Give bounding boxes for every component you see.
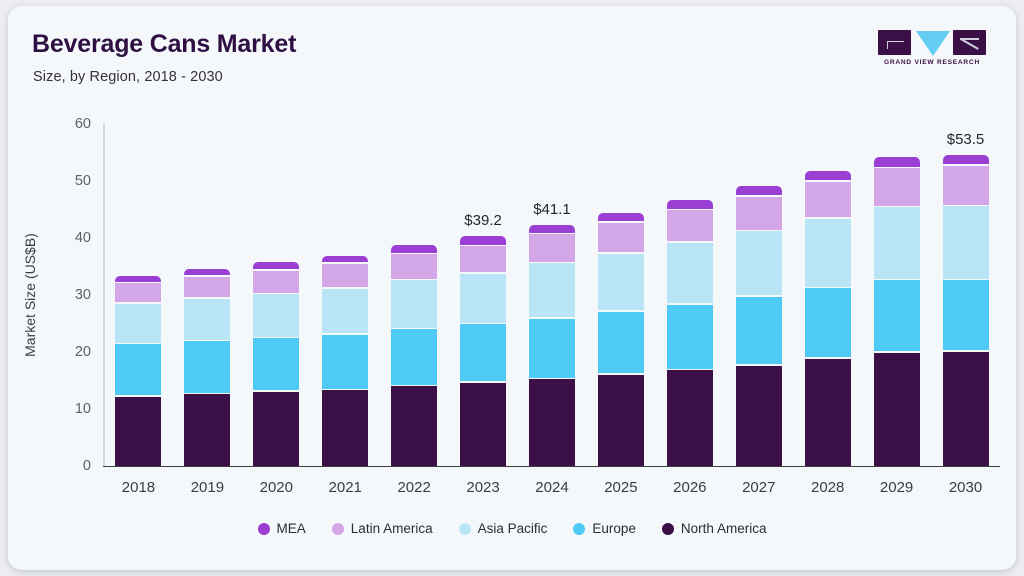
bar-segment-latin-america[interactable] xyxy=(874,168,920,206)
bar-segment-mea[interactable] xyxy=(460,236,506,245)
bar-segment-mea[interactable] xyxy=(529,225,575,232)
legend-item-north-america[interactable]: North America xyxy=(662,521,767,536)
bar-segment-asia-pacific[interactable] xyxy=(736,231,782,295)
stacked-bar[interactable] xyxy=(736,186,782,466)
bar-slot: $53.52030 xyxy=(931,124,1000,466)
bar-slot: $39.22023 xyxy=(449,124,518,466)
legend-label: Europe xyxy=(592,521,636,536)
bar-segment-europe[interactable] xyxy=(391,329,437,384)
bar-segment-north-america[interactable] xyxy=(805,359,851,466)
stacked-bar[interactable] xyxy=(184,269,230,466)
bar-segment-latin-america[interactable] xyxy=(391,254,437,279)
legend-label: Latin America xyxy=(351,521,433,536)
stacked-bar[interactable] xyxy=(253,262,299,466)
x-axis-tick: 2018 xyxy=(122,479,155,496)
bar-segment-north-america[interactable] xyxy=(460,383,506,466)
stacked-bar[interactable] xyxy=(667,200,713,466)
bar-slot: 2019 xyxy=(173,124,242,466)
logo-wordmark: GRAND VIEW RESEARCH xyxy=(878,59,986,66)
bar-slot: 2020 xyxy=(242,124,311,466)
stacked-bar[interactable]: $53.5 xyxy=(943,155,989,466)
bar-segment-north-america[interactable] xyxy=(529,379,575,466)
y-axis-tick: 20 xyxy=(75,344,91,360)
bar-slot: 2027 xyxy=(724,124,793,466)
x-axis-tick: 2026 xyxy=(673,479,706,496)
bar-segment-asia-pacific[interactable] xyxy=(805,219,851,287)
bar-segment-mea[interactable] xyxy=(322,256,368,263)
y-axis-tick: 50 xyxy=(75,173,91,189)
bar-segment-europe[interactable] xyxy=(736,297,782,364)
x-axis-tick: 2024 xyxy=(535,479,568,496)
bar-segment-latin-america[interactable] xyxy=(943,166,989,205)
bar-segment-latin-america[interactable] xyxy=(805,182,851,217)
x-axis-tick: 2022 xyxy=(397,479,430,496)
bar-segment-asia-pacific[interactable] xyxy=(253,294,299,337)
legend-swatch-icon xyxy=(573,523,585,535)
x-axis-tick: 2028 xyxy=(811,479,844,496)
bar-segment-asia-pacific[interactable] xyxy=(529,263,575,317)
bar-segment-asia-pacific[interactable] xyxy=(943,206,989,278)
chart-legend: MEALatin AmericaAsia PacificEuropeNorth … xyxy=(8,521,1016,536)
x-axis-tick: 2023 xyxy=(466,479,499,496)
bar-segment-europe[interactable] xyxy=(460,324,506,381)
bar-segment-mea[interactable] xyxy=(598,213,644,221)
legend-label: MEA xyxy=(277,521,306,536)
page-title: Beverage Cans Market xyxy=(32,30,296,59)
bar-segment-latin-america[interactable] xyxy=(667,210,713,241)
bar-segment-asia-pacific[interactable] xyxy=(460,274,506,323)
bar-segment-north-america[interactable] xyxy=(391,386,437,466)
legend-label: Asia Pacific xyxy=(478,521,548,536)
stacked-bar[interactable] xyxy=(874,157,920,466)
bar-segment-latin-america[interactable] xyxy=(736,197,782,230)
grand-view-research-logo: GRAND VIEW RESEARCH xyxy=(878,30,986,70)
bar-segment-europe[interactable] xyxy=(667,305,713,369)
logo-r-icon xyxy=(960,38,979,48)
bar-segment-north-america[interactable] xyxy=(667,370,713,466)
legend-item-mea[interactable]: MEA xyxy=(258,521,306,536)
legend-item-latin-america[interactable]: Latin America xyxy=(332,521,433,536)
bar-slot: 2022 xyxy=(380,124,449,466)
stacked-bar[interactable]: $39.2 xyxy=(460,236,506,466)
bar-segment-latin-america[interactable] xyxy=(322,264,368,287)
bar-segment-north-america[interactable] xyxy=(943,352,989,466)
stacked-bar[interactable]: $41.1 xyxy=(529,225,575,466)
bar-segment-mea[interactable] xyxy=(805,171,851,180)
chart-subtitle: Size, by Region, 2018 - 2030 xyxy=(33,69,223,85)
bar-segment-mea[interactable] xyxy=(874,157,920,167)
bar-segment-north-america[interactable] xyxy=(115,397,161,466)
bar-segment-europe[interactable] xyxy=(253,338,299,390)
bar-segment-north-america[interactable] xyxy=(322,390,368,466)
bar-segment-europe[interactable] xyxy=(115,344,161,395)
bar-segment-latin-america[interactable] xyxy=(460,246,506,272)
x-axis-tick: 2030 xyxy=(949,479,982,496)
bar-segment-latin-america[interactable] xyxy=(253,271,299,293)
x-axis-tick: 2025 xyxy=(604,479,637,496)
bar-segment-europe[interactable] xyxy=(874,280,920,351)
x-axis-tick: 2021 xyxy=(329,479,362,496)
bar-segment-north-america[interactable] xyxy=(874,353,920,466)
stacked-bar[interactable] xyxy=(598,213,644,466)
x-axis-tick: 2027 xyxy=(742,479,775,496)
y-axis-tick: 60 xyxy=(75,116,91,132)
bar-segment-mea[interactable] xyxy=(736,186,782,195)
bar-segment-europe[interactable] xyxy=(529,319,575,378)
legend-swatch-icon xyxy=(459,523,471,535)
legend-swatch-icon xyxy=(662,523,674,535)
y-axis-tick: 10 xyxy=(75,401,91,417)
stacked-bar[interactable] xyxy=(322,256,368,466)
stacked-bar[interactable] xyxy=(805,171,851,466)
bar-slot: 2018 xyxy=(104,124,173,466)
x-axis-tick: 2029 xyxy=(880,479,913,496)
legend-item-europe[interactable]: Europe xyxy=(573,521,636,536)
bar-value-label: $41.1 xyxy=(533,201,571,218)
bar-segment-asia-pacific[interactable] xyxy=(391,280,437,327)
logo-g-icon xyxy=(887,41,904,49)
bar-segment-europe[interactable] xyxy=(184,341,230,392)
legend-label: North America xyxy=(681,521,767,536)
bar-slot: 2021 xyxy=(311,124,380,466)
plot-area: Market Size (US$B) 0102030405060 2018201… xyxy=(104,124,1000,466)
bar-segment-europe[interactable] xyxy=(322,335,368,389)
legend-swatch-icon xyxy=(258,523,270,535)
logo-v-triangle-icon xyxy=(916,31,950,56)
chart-card: Beverage Cans Market Size, by Region, 20… xyxy=(8,6,1016,570)
bar-segment-latin-america[interactable] xyxy=(598,223,644,252)
bar-segment-north-america[interactable] xyxy=(736,366,782,466)
bar-value-label: $39.2 xyxy=(464,212,502,229)
bar-value-label: $53.5 xyxy=(947,131,985,148)
logo-marks xyxy=(878,30,986,56)
bar-segment-mea[interactable] xyxy=(667,200,713,209)
bar-segment-europe[interactable] xyxy=(805,288,851,357)
bar-segment-latin-america[interactable] xyxy=(184,277,230,298)
bar-segment-north-america[interactable] xyxy=(184,394,230,466)
bar-segment-asia-pacific[interactable] xyxy=(667,243,713,303)
y-axis-tick: 0 xyxy=(83,458,91,474)
legend-swatch-icon xyxy=(332,523,344,535)
bar-segment-mea[interactable] xyxy=(943,155,989,165)
x-axis-tick: 2020 xyxy=(260,479,293,496)
bar-segment-europe[interactable] xyxy=(598,312,644,374)
bar-slot: 2029 xyxy=(862,124,931,466)
bar-segment-asia-pacific[interactable] xyxy=(184,299,230,340)
bar-slot: 2025 xyxy=(586,124,655,466)
bar-segment-europe[interactable] xyxy=(943,280,989,350)
bar-slot: $41.12024 xyxy=(518,124,587,466)
bar-segment-mea[interactable] xyxy=(253,262,299,269)
bar-segment-asia-pacific[interactable] xyxy=(322,289,368,333)
y-axis-label: Market Size (US$B) xyxy=(22,233,38,357)
bar-slot: 2028 xyxy=(793,124,862,466)
bar-segment-asia-pacific[interactable] xyxy=(874,207,920,278)
stacked-bar[interactable] xyxy=(115,276,161,466)
y-axis-tick: 40 xyxy=(75,230,91,246)
stacked-bar[interactable] xyxy=(391,245,437,466)
y-axis-tick: 30 xyxy=(75,287,91,303)
chart-header: Beverage Cans Market Size, by Region, 20… xyxy=(8,6,1016,102)
bar-segment-north-america[interactable] xyxy=(253,392,299,466)
bar-segment-latin-america[interactable] xyxy=(529,234,575,261)
legend-item-asia-pacific[interactable]: Asia Pacific xyxy=(459,521,548,536)
x-axis-tick: 2019 xyxy=(191,479,224,496)
bar-segment-mea[interactable] xyxy=(391,245,437,252)
bar-segment-asia-pacific[interactable] xyxy=(598,254,644,310)
bar-slot: 2026 xyxy=(655,124,724,466)
bar-segment-north-america[interactable] xyxy=(598,375,644,466)
bar-group: 20182019202020212022$39.22023$41.1202420… xyxy=(104,124,1000,466)
bar-segment-latin-america[interactable] xyxy=(115,283,161,302)
bar-segment-asia-pacific[interactable] xyxy=(115,304,161,343)
